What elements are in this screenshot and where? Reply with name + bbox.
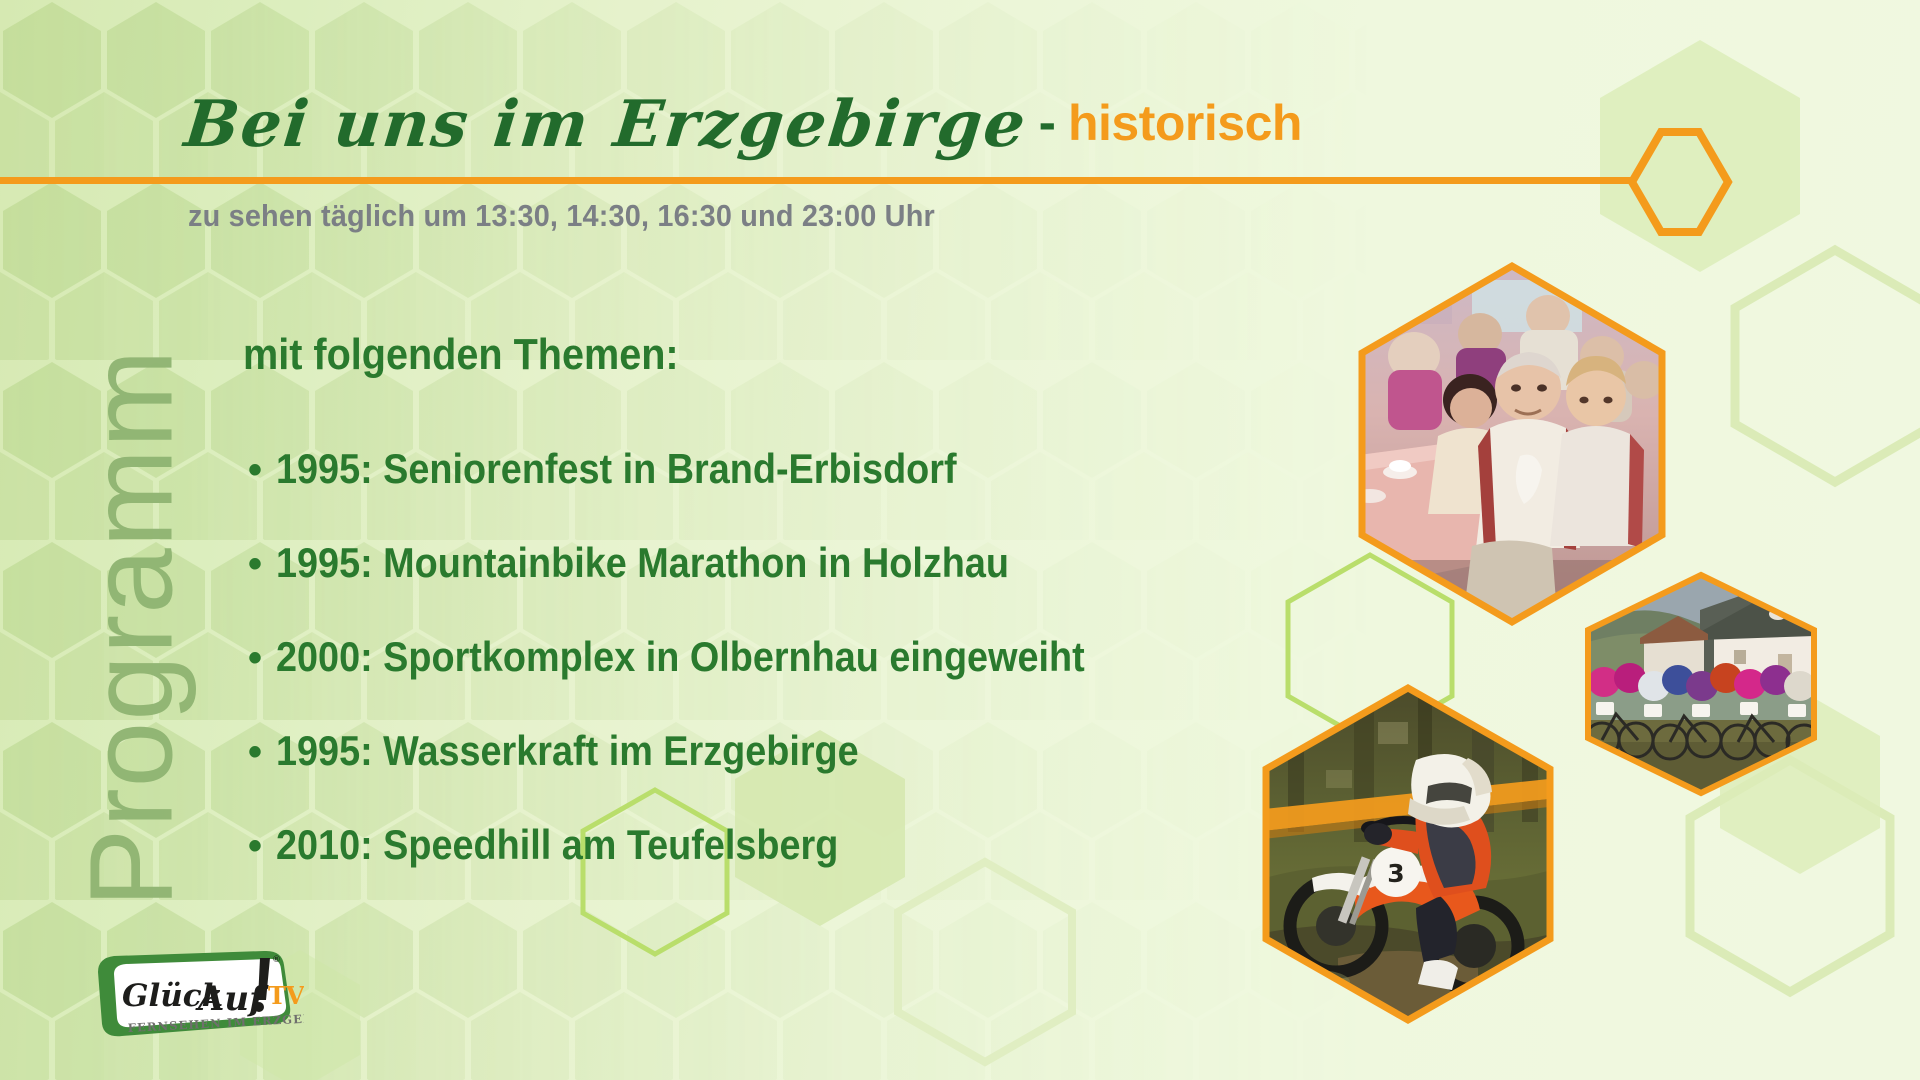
logo-tv: TV — [268, 981, 304, 1010]
list-item: • 2000: Sportkomplex in Olbernhau eingew… — [248, 633, 1175, 727]
slide-canvas: Bei uns im Erzgebirge-historisch zu sehe… — [0, 0, 1920, 1080]
bullet-marker-icon: • — [248, 638, 276, 678]
list-item: • 1995: Seniorenfest in Brand-Erbisdorf — [248, 445, 1175, 539]
bullet-marker-icon: • — [248, 732, 276, 772]
header-divider-line — [0, 177, 1636, 184]
list-item: • 2010: Speedhill am Teufelsberg — [248, 821, 1175, 915]
speedhill-photo: 3 — [1258, 682, 1558, 1026]
themes-intro-heading: mit folgenden Themen: — [243, 330, 679, 380]
bullet-marker-icon: • — [248, 450, 276, 490]
list-item: • 1995: Mountainbike Marathon in Holzhau — [248, 539, 1175, 633]
registered-mark: ® — [272, 955, 281, 965]
page-title: Bei uns im Erzgebirge-historisch — [185, 93, 1302, 157]
glueckauf-tv-logo[interactable]: Glück Auf ® TV FERNSEHEN IM ERZGEBIRGE — [92, 950, 304, 1040]
topics-list: • 1995: Seniorenfest in Brand-Erbisdorf … — [248, 445, 1175, 915]
sidebar-vertical-label: Programm — [63, 349, 199, 908]
divider-hexagon-icon — [1625, 128, 1735, 236]
page-title-script: Bei uns im Erzgebirge — [182, 93, 1030, 157]
bullet-marker-icon: • — [248, 826, 276, 866]
list-item-label: 1995: Wasserkraft im Erzgebirge — [276, 727, 859, 775]
list-item-label: 1995: Mountainbike Marathon in Holzhau — [276, 539, 1009, 587]
list-item: • 1995: Wasserkraft im Erzgebirge — [248, 727, 1175, 821]
list-item-label: 2010: Speedhill am Teufelsberg — [276, 821, 838, 869]
mountainbike-photo — [1582, 570, 1820, 798]
broadcast-times-subtitle: zu sehen täglich um 13:30, 14:30, 16:30 … — [188, 198, 935, 234]
svg-text:Auf: Auf — [195, 979, 269, 1019]
list-item-label: 2000: Sportkomplex in Olbernhau eingewei… — [276, 633, 1085, 681]
page-title-highlight: historisch — [1068, 98, 1302, 148]
svg-text:3: 3 — [1387, 859, 1404, 888]
page-title-dash: - — [1039, 97, 1056, 149]
list-item-label: 1995: Seniorenfest in Brand-Erbisdorf — [276, 445, 957, 493]
bullet-marker-icon: • — [248, 544, 276, 584]
